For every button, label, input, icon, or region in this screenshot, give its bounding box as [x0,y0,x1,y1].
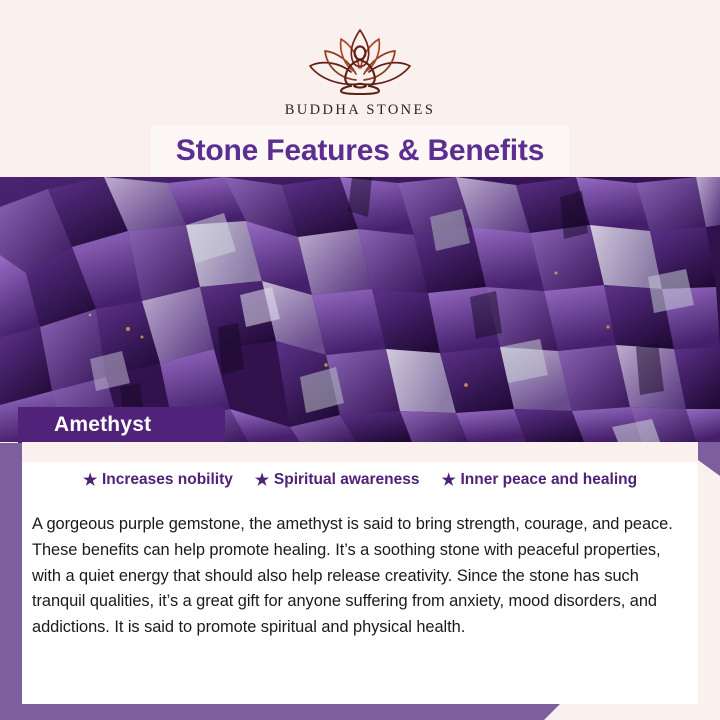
page-title-band: Stone Features & Benefits [151,126,569,176]
benefit-item: ★ Spiritual awareness [255,471,420,489]
benefit-label: Inner peace and healing [460,471,637,489]
amethyst-crystal-photo [0,177,720,442]
brand-name: BUDDHA STONES [285,102,436,119]
star-icon: ★ [83,473,98,488]
benefit-item: ★ Inner peace and healing [441,471,637,489]
star-icon: ★ [441,473,456,488]
benefit-label: Increases nobility [102,471,233,489]
benefits-row: ★ Increases nobility ★ Spiritual awarene… [22,462,698,492]
stone-name-tag: Amethyst [18,407,225,443]
bottom-purple-band [0,704,560,720]
stone-description: A gorgeous purple gemstone, the amethyst… [22,508,698,640]
header: BUDDHA STONES Stone Features & Benefits [0,0,720,177]
content-panel: ★ Increases nobility ★ Spiritual awarene… [22,442,698,704]
content-top-strip [22,442,698,462]
benefit-item: ★ Increases nobility [83,471,233,489]
lotus-meditation-icon [301,22,419,98]
benefit-label: Spiritual awareness [274,471,420,489]
left-purple-band [0,443,22,720]
brand-logo: BUDDHA STONES [0,22,720,119]
star-icon: ★ [255,473,270,488]
page-title: Stone Features & Benefits [176,134,544,168]
stone-features-infographic: BUDDHA STONES Stone Features & Benefits [0,0,720,720]
hero-image [0,177,720,442]
stone-name-label: Amethyst [54,413,151,437]
